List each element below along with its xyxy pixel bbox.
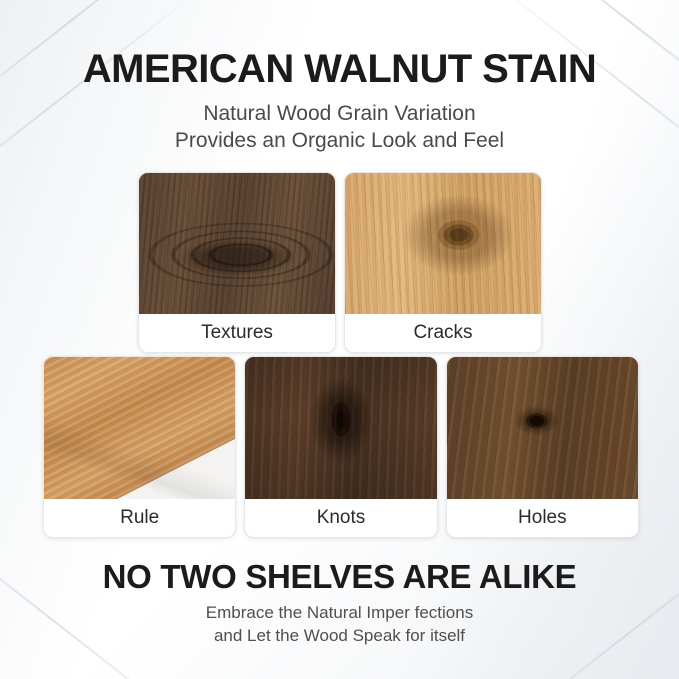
footer-subtitle: Embrace the Natural Imper fections and L… — [0, 601, 679, 647]
light-streak-decoration — [479, 515, 679, 679]
feature-grid-bottom: Rule Knots Holes — [43, 356, 639, 538]
footer-subtitle-line-1: Embrace the Natural Imper fections — [206, 603, 473, 622]
feature-card-caption: Textures — [139, 314, 335, 352]
feature-grid-top: Textures Cracks — [138, 172, 544, 353]
subtitle: Natural Wood Grain Variation Provides an… — [0, 100, 679, 154]
promo-graphic: AMERICAN WALNUT STAIN Natural Wood Grain… — [0, 0, 679, 679]
subtitle-line-2: Provides an Organic Look and Feel — [0, 127, 679, 154]
feature-card-rule: Rule — [43, 356, 236, 538]
footer-subtitle-line-2: and Let the Wood Speak for itself — [0, 624, 679, 647]
feature-card-cracks: Cracks — [344, 172, 542, 353]
subtitle-line-1: Natural Wood Grain Variation — [203, 102, 475, 125]
wood-swatch-textures — [139, 173, 335, 314]
feature-card-caption: Cracks — [345, 314, 541, 352]
feature-card-caption: Knots — [245, 499, 436, 537]
wood-swatch-knots — [245, 357, 436, 499]
feature-card-caption: Holes — [447, 499, 638, 537]
wood-swatch-holes — [447, 357, 638, 499]
wood-swatch-rule — [44, 357, 235, 499]
feature-card-textures: Textures — [138, 172, 336, 353]
feature-card-knots: Knots — [244, 356, 437, 538]
wood-swatch-cracks — [345, 173, 541, 314]
footer-headline: NO TWO SHELVES ARE ALIKE — [0, 558, 679, 596]
page-title: AMERICAN WALNUT STAIN — [0, 46, 679, 92]
feature-card-holes: Holes — [446, 356, 639, 538]
feature-card-caption: Rule — [44, 499, 235, 537]
